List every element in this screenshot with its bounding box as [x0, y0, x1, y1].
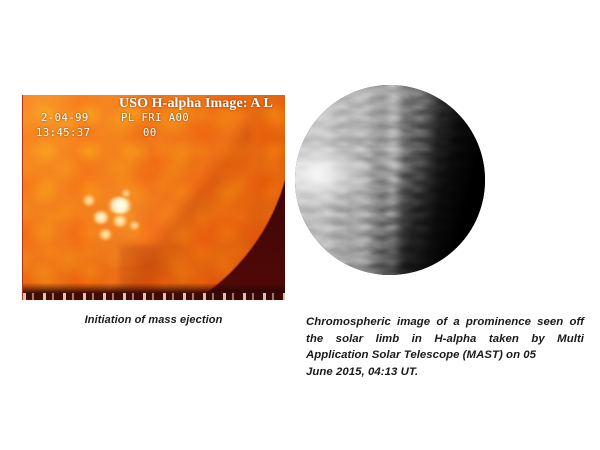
- halpha-overlay-time: 13:45:37: [36, 128, 91, 139]
- caption-line-1: Chromospheric image of a prominence seen: [306, 316, 563, 328]
- bottom-tick-strip: [23, 293, 285, 300]
- erupting-prominence: [77, 187, 173, 249]
- halpha-image-frame: USO H-alpha Image: A L 2-04-99 PL FRI A0…: [22, 95, 285, 300]
- caption-mast-prominence: Chromospheric image of a prominence seen…: [306, 314, 584, 380]
- figure-halpha-mass-ejection: USO H-alpha Image: A L 2-04-99 PL FRI A0…: [22, 95, 285, 300]
- prominence-knot-secondary: [93, 211, 109, 224]
- prominence-knot-top: [121, 189, 131, 198]
- caption-line-3: Application Solar Telescope (MAST) on 05: [306, 349, 536, 361]
- caption-mass-ejection: Initiation of mass ejection: [22, 314, 285, 326]
- prominence-knot-tertiary: [113, 215, 127, 227]
- mast-circular-image: [295, 85, 485, 275]
- prominence-knot-right: [129, 221, 140, 230]
- prominence-knot-lower: [99, 229, 112, 240]
- halpha-overlay-code: 00: [143, 128, 157, 139]
- figure-mast-prominence: [295, 85, 485, 275]
- fibril-texture: [295, 85, 485, 275]
- prominence-knot-upper-left: [83, 195, 95, 206]
- bottom-strip-shading: [23, 283, 285, 293]
- prominence-knot-primary: [107, 197, 133, 214]
- halpha-overlay-date: 2-04-99: [41, 113, 89, 124]
- figure-page: USO H-alpha Image: A L 2-04-99 PL FRI A0…: [0, 0, 600, 450]
- halpha-overlay-title: USO H-alpha Image: A L: [119, 96, 273, 112]
- halpha-overlay-station: PL FRI A00: [121, 113, 189, 124]
- caption-line-4: June 2015, 04:13 UT.: [306, 364, 584, 381]
